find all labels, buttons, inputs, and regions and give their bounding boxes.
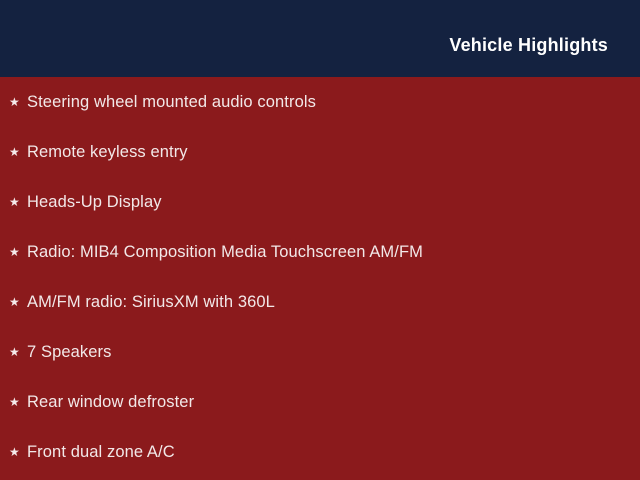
list-item-label: 7 Speakers bbox=[27, 343, 111, 361]
star-icon: ★ bbox=[9, 277, 20, 327]
star-icon: ★ bbox=[9, 377, 20, 427]
list-item: ★ Remote keyless entry bbox=[0, 127, 640, 177]
highlights-list: ★ Steering wheel mounted audio controls … bbox=[0, 77, 640, 477]
star-icon: ★ bbox=[9, 77, 20, 127]
list-item-label: Radio: MIB4 Composition Media Touchscree… bbox=[27, 243, 423, 261]
list-item-label: Remote keyless entry bbox=[27, 143, 188, 161]
list-item: ★ Steering wheel mounted audio controls bbox=[0, 77, 640, 127]
highlights-panel: ★ Steering wheel mounted audio controls … bbox=[0, 77, 640, 480]
star-icon: ★ bbox=[9, 427, 20, 477]
list-item-label: Front dual zone A/C bbox=[27, 443, 175, 461]
star-icon: ★ bbox=[9, 127, 20, 177]
star-icon: ★ bbox=[9, 227, 20, 277]
list-item: ★ 7 Speakers bbox=[0, 327, 640, 377]
list-item: ★ Heads-Up Display bbox=[0, 177, 640, 227]
list-item: ★ AM/FM radio: SiriusXM with 360L bbox=[0, 277, 640, 327]
list-item: ★ Front dual zone A/C bbox=[0, 427, 640, 477]
list-item-label: Rear window defroster bbox=[27, 393, 194, 411]
list-item-label: AM/FM radio: SiriusXM with 360L bbox=[27, 293, 275, 311]
vehicle-highlights-slide: Vehicle Highlights ★ Steering wheel moun… bbox=[0, 0, 640, 480]
list-item-label: Steering wheel mounted audio controls bbox=[27, 93, 316, 111]
star-icon: ★ bbox=[9, 177, 20, 227]
list-item: ★ Radio: MIB4 Composition Media Touchscr… bbox=[0, 227, 640, 277]
list-item-label: Heads-Up Display bbox=[27, 193, 162, 211]
list-item: ★ Rear window defroster bbox=[0, 377, 640, 427]
slide-header: Vehicle Highlights bbox=[0, 0, 640, 77]
star-icon: ★ bbox=[9, 327, 20, 377]
page-title: Vehicle Highlights bbox=[449, 36, 608, 54]
